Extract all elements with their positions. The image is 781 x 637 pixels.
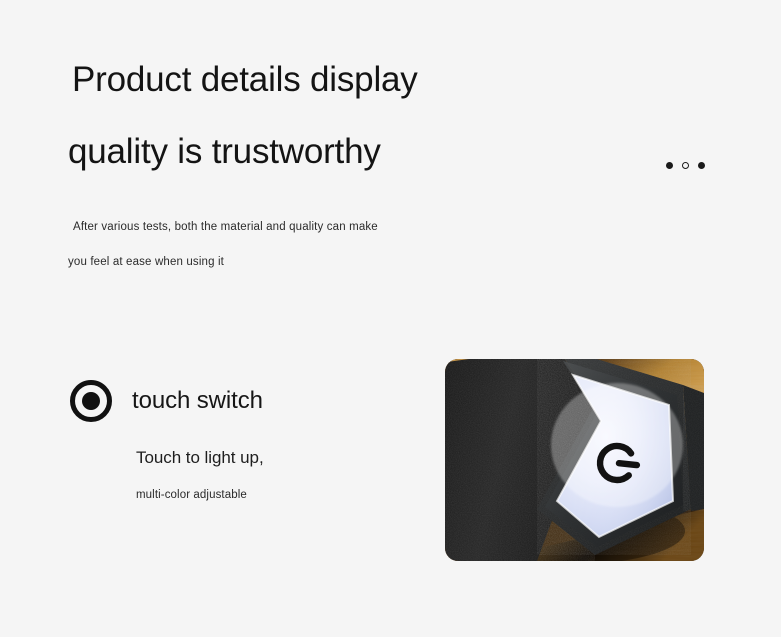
feature-description-secondary: multi-color adjustable xyxy=(136,489,400,501)
feature-description-primary: Touch to light up, xyxy=(136,448,400,468)
feature-body: Touch to light up, multi-color adjustabl… xyxy=(70,448,400,501)
target-dot-icon xyxy=(70,380,112,422)
target-dot-icon-core xyxy=(82,392,100,410)
feature-touch-switch: touch switch Touch to light up, multi-co… xyxy=(70,380,400,501)
headline-line-1: Product details display xyxy=(72,44,542,116)
subtitle-line-1: After various tests, both the material a… xyxy=(68,210,488,245)
subtitle-line-2: you feel at ease when using it xyxy=(68,245,488,280)
page-subtitle: After various tests, both the material a… xyxy=(68,210,488,280)
product-photo-illustration xyxy=(445,359,704,561)
feature-header: touch switch xyxy=(70,380,400,422)
product-photo xyxy=(445,359,704,561)
carousel-dot-3[interactable] xyxy=(698,162,705,169)
feature-title: touch switch xyxy=(132,387,263,415)
carousel-pagination[interactable] xyxy=(666,162,705,169)
carousel-dot-2[interactable] xyxy=(682,162,689,169)
product-detail-page: Product details display quality is trust… xyxy=(0,0,781,637)
page-title: Product details display quality is trust… xyxy=(72,44,542,188)
carousel-dot-1[interactable] xyxy=(666,162,673,169)
headline-line-2: quality is trustworthy xyxy=(68,116,542,188)
